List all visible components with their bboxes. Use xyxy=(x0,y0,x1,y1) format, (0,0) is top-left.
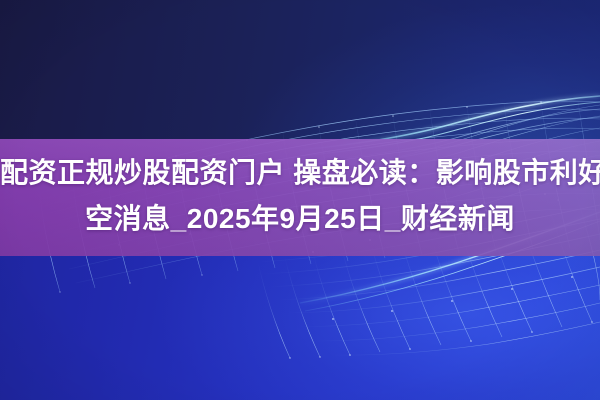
banner-headline: 配资正规炒股配资门户 操盘必读：影响股市利好或利 空消息_2025年9月25日_… xyxy=(0,150,600,242)
headline-line-2: 空消息_2025年9月25日_财经新闻 xyxy=(0,196,600,242)
headline-line-1: 配资正规炒股配资门户 操盘必读：影响股市利好或利 xyxy=(0,150,600,196)
news-banner: 配资正规炒股配资门户 操盘必读：影响股市利好或利 空消息_2025年9月25日_… xyxy=(0,0,600,400)
